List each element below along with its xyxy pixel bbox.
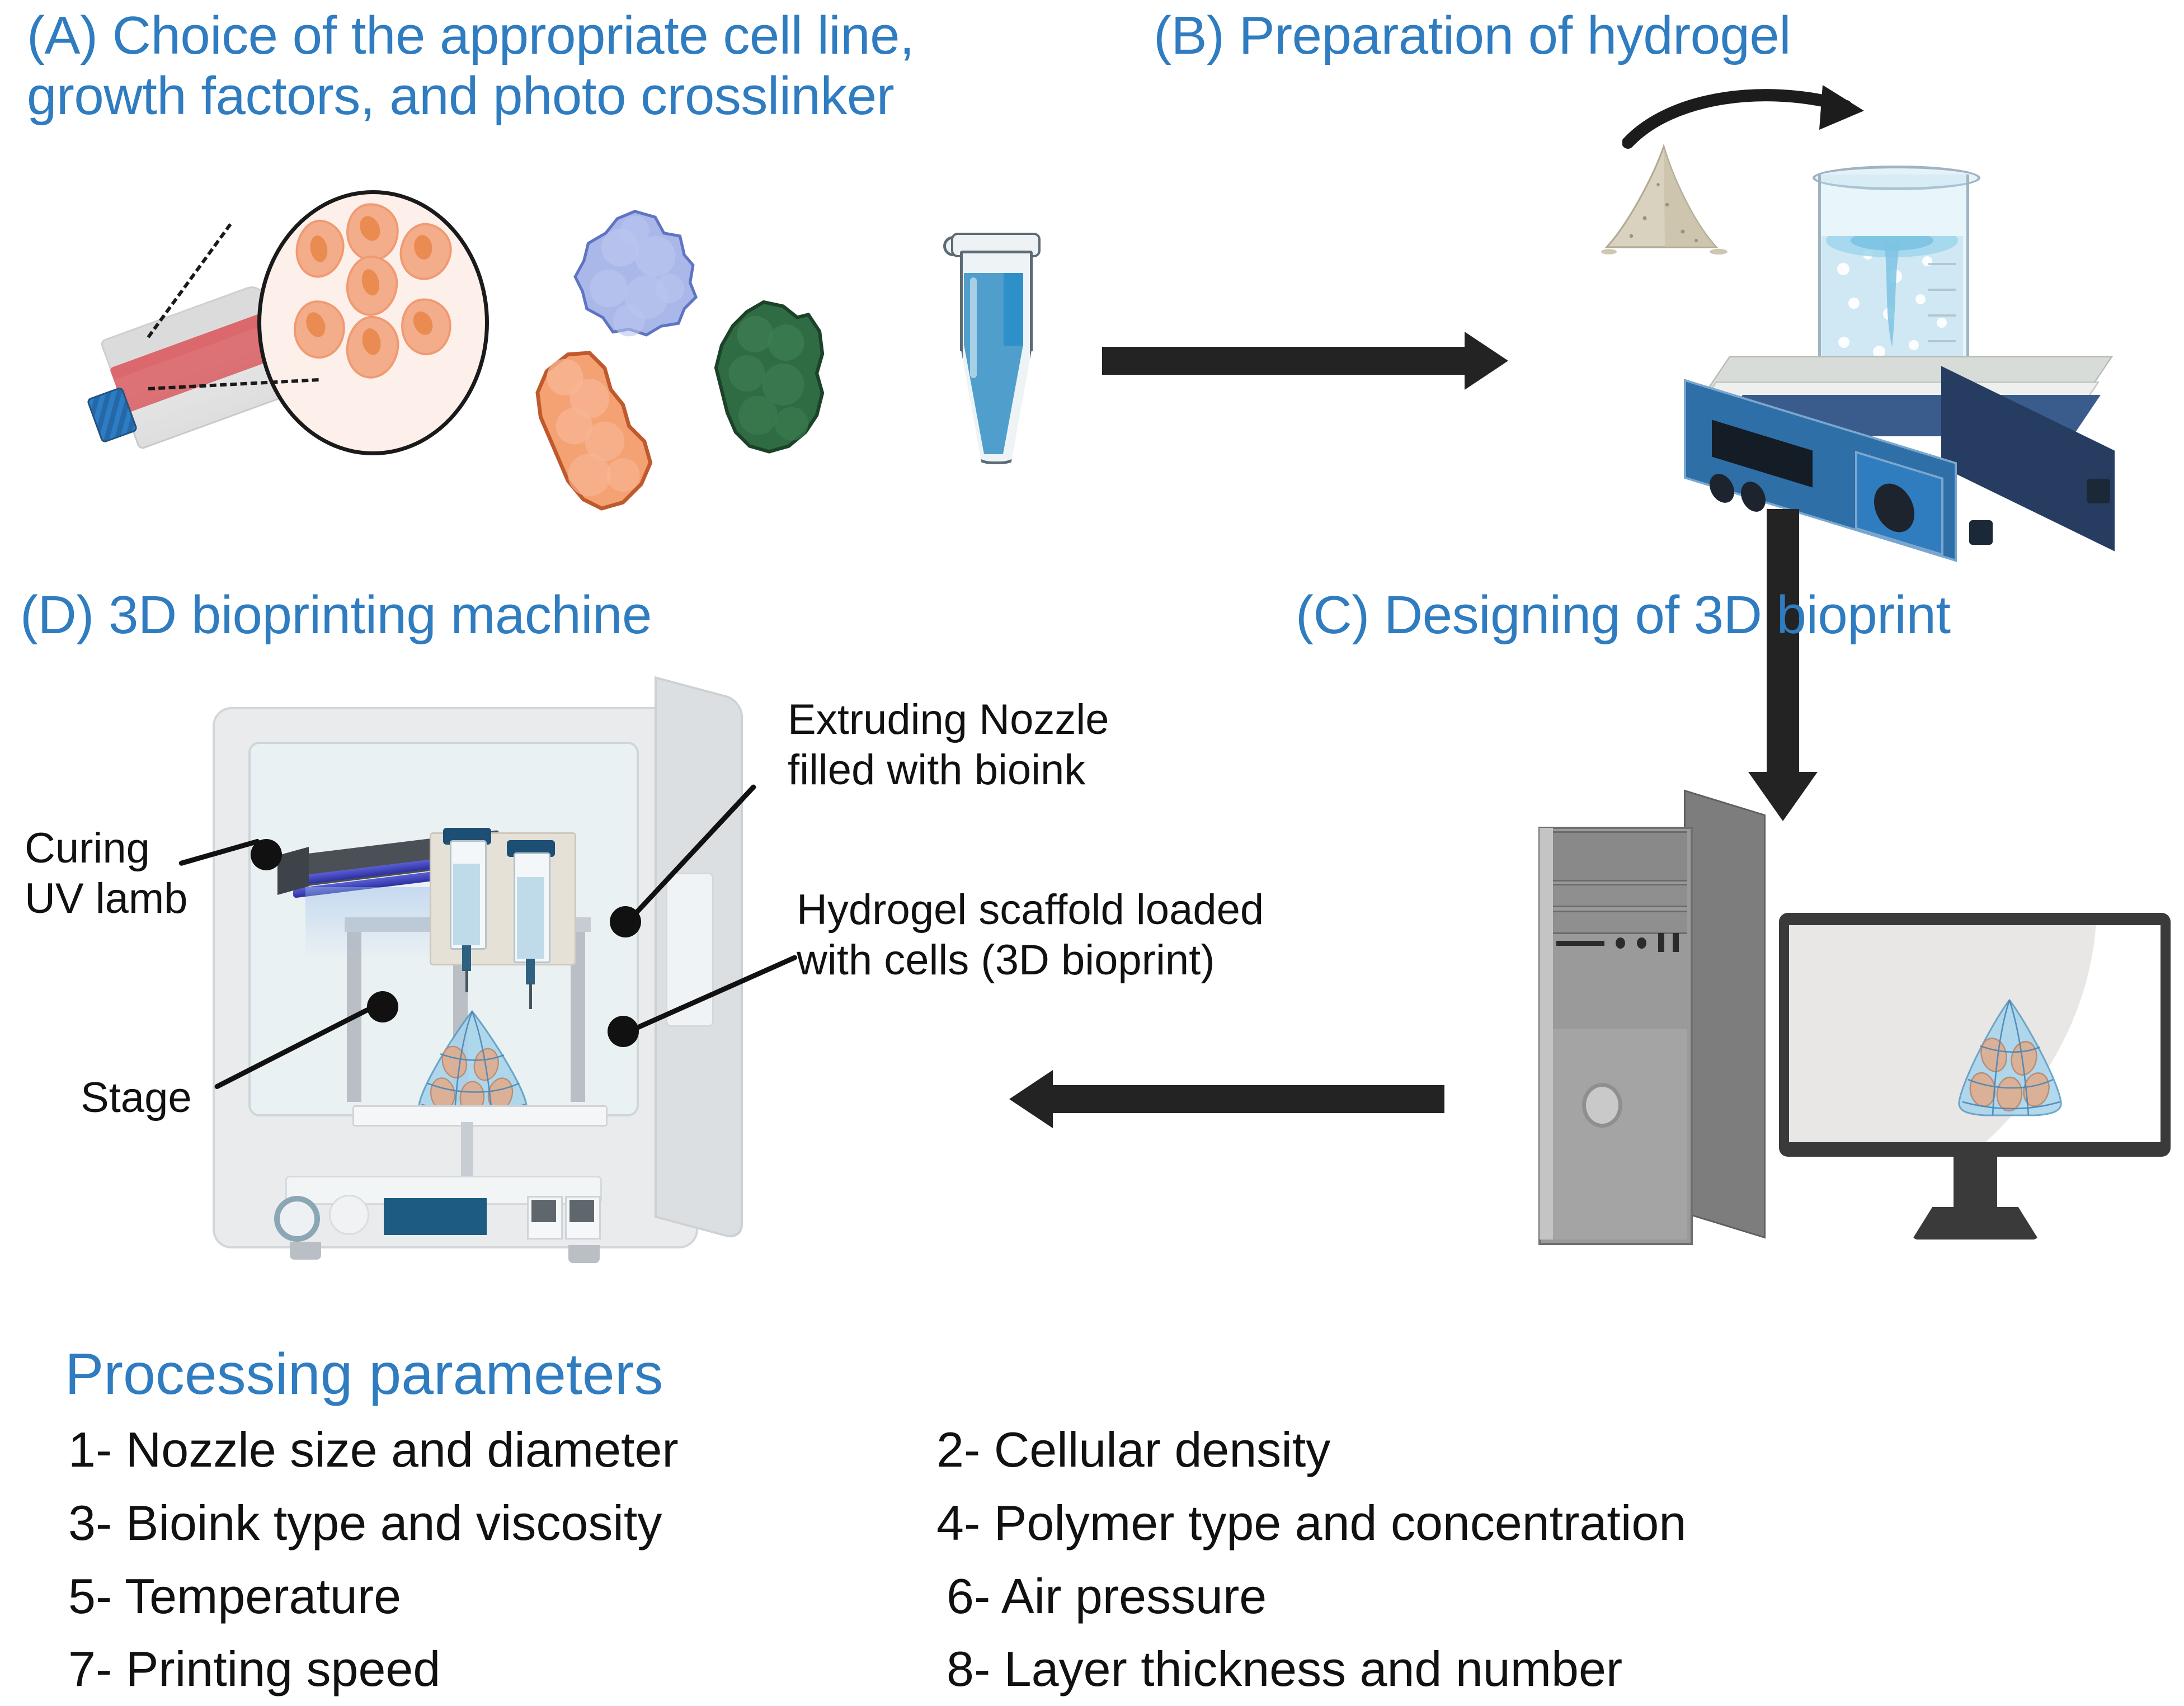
panel-c-title: (C) Designing of 3D bioprint (1296, 585, 2023, 645)
bioprinter (213, 688, 772, 1281)
cell (344, 254, 399, 318)
cell (292, 217, 348, 281)
panel-b-title: (B) Preparation of hydrogel (1154, 6, 1937, 66)
printer-slot-1[interactable] (527, 1196, 563, 1240)
cell (397, 295, 455, 359)
cell (343, 313, 402, 381)
panel-a-title: (A) Choice of the appropriate cell line,… (27, 6, 1090, 126)
magnified-cells-circle (257, 190, 489, 455)
leader-dot-stage (367, 991, 398, 1022)
computer-monitor (1779, 913, 2182, 1260)
parameter-item: 2- Cellular density (936, 1423, 2111, 1477)
tower-led-2 (1637, 937, 1646, 949)
magnetic-stirrer (1639, 168, 2143, 526)
monitor-screen (1789, 925, 2161, 1142)
parameters-right-column: 2- Cellular density 4- Polymer type and … (936, 1423, 2111, 1696)
tower-side-face (1684, 790, 1766, 1239)
scaffold-model (1951, 996, 2069, 1119)
printed-scaffold (408, 1008, 537, 1120)
parameter-item: 8- Layer thickness and number (947, 1642, 2111, 1696)
tower-power-button[interactable] (1582, 1083, 1622, 1128)
syringe-extruders (430, 828, 609, 1018)
print-stage-support (461, 1122, 473, 1184)
printer-display (384, 1198, 487, 1235)
tower-drive-bay-3 (1553, 911, 1687, 934)
parameters-left-column: 1- Nozzle size and diameter 3- Bioink ty… (68, 1423, 941, 1696)
stirrer-foot-front (1969, 520, 1993, 545)
printer-slot-2[interactable] (565, 1196, 601, 1240)
printer-dial-knob[interactable] (329, 1195, 369, 1235)
crosslinker-tube (945, 201, 1091, 481)
arrow-c-to-d (1007, 1068, 1477, 1130)
parameters-heading: Processing parameters (65, 1342, 848, 1406)
cell (343, 200, 402, 263)
syringe-bioink-1 (453, 864, 480, 945)
diagram-canvas: (A) Choice of the appropriate cell line,… (0, 0, 2184, 1706)
growth-factor-protein-green (699, 296, 839, 464)
tower-drive-bay-1 (1553, 831, 1687, 882)
tower-drive-bay-2 (1553, 884, 1687, 907)
tower-bezel-left (1540, 828, 1553, 1240)
stirrer-foot-right (2087, 479, 2110, 503)
parameter-item: 6- Air pressure (947, 1570, 2111, 1624)
printer-foot-left (290, 1242, 321, 1260)
parameter-item: 4- Polymer type and concentration (936, 1496, 2111, 1551)
nozzle-tip-1 (462, 945, 471, 971)
parameter-item: 1- Nozzle size and diameter (68, 1423, 941, 1477)
monitor-neck (1954, 1157, 1997, 1213)
annotation-curing-uv-lamp: Curing UV lamb (25, 823, 260, 923)
printer-power-button[interactable] (274, 1196, 320, 1242)
tower-power-slot (1556, 941, 1604, 946)
tower-lower-panel (1553, 1029, 1687, 1240)
growth-factor-protein-purple (565, 207, 710, 352)
tube-highlight (970, 277, 977, 378)
nozzle-needle-1 (465, 969, 468, 992)
parameter-item: 7- Printing speed (68, 1642, 941, 1696)
annotation-extruding-nozzle: Extruding Nozzle filled with bioink (788, 695, 1213, 795)
tube-liquid-shade (1004, 273, 1023, 346)
tower-usb-port-2 (1673, 933, 1679, 952)
arrow-b-to-c (1751, 509, 1841, 822)
cell (291, 299, 347, 360)
panel-d-title: (D) 3D bioprinting machine (20, 585, 747, 645)
tower-usb-port-1 (1658, 933, 1664, 952)
cell (396, 219, 456, 284)
arrow-a-to-b (1102, 330, 1516, 392)
parameter-item: 5- Temperature (68, 1570, 941, 1624)
annotation-hydrogel-scaffold: Hydrogel scaffold loaded with cells (3D … (797, 885, 1345, 985)
nozzle-needle-2 (529, 982, 532, 1009)
parameter-item: 3- Bioink type and viscosity (68, 1496, 941, 1551)
syringe-bioink-2 (517, 877, 544, 959)
tower-led-1 (1616, 937, 1625, 949)
nozzle-tip-2 (526, 959, 535, 984)
growth-factor-protein-orange (520, 347, 677, 515)
printer-foot-right (568, 1245, 600, 1263)
print-stage (352, 1105, 608, 1127)
monitor-base (1912, 1207, 2039, 1240)
